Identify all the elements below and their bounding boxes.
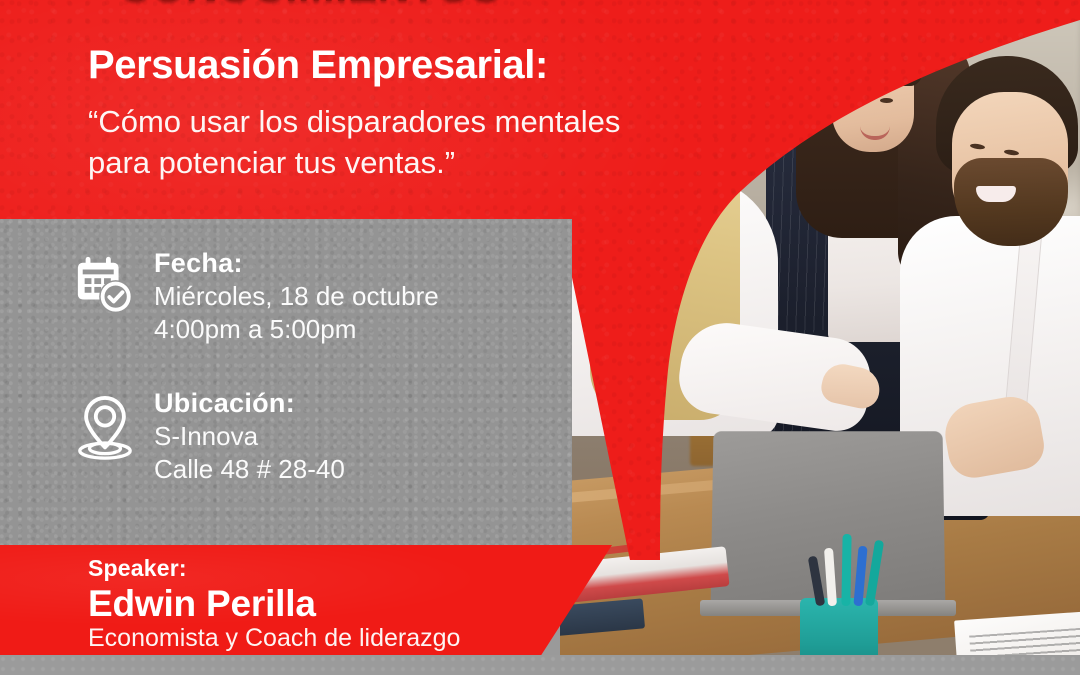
location-text-block: Ubicación: S-Innova Calle 48 # 28-40 <box>148 388 345 485</box>
event-flyer: CONOCIMIENTOS Persuasión Empresarial: “C… <box>0 0 1080 675</box>
info-row-date: Fecha: Miércoles, 18 de octubre 4:00pm a… <box>62 248 439 345</box>
venue-address: Calle 48 # 28-40 <box>154 453 345 486</box>
person-standing-eye-right <box>880 98 893 103</box>
subtitle-line-1: “Cómo usar los disparadores mentales <box>88 104 620 139</box>
subtitle-line-2: para potenciar tus ventas.” <box>88 143 748 184</box>
time-value: 4:00pm a 5:00pm <box>154 313 439 346</box>
location-label: Ubicación: <box>154 388 345 420</box>
speaker-name: Edwin Perilla <box>88 583 316 625</box>
calendar-check-icon <box>62 248 148 316</box>
map-pin-icon <box>62 388 148 460</box>
venue-name: S-Innova <box>154 420 345 453</box>
pen <box>841 534 851 606</box>
cut-off-heading: CONOCIMIENTOS <box>0 0 620 12</box>
date-label: Fecha: <box>154 248 439 280</box>
person-man-smile <box>976 186 1016 202</box>
bottom-gray-strip <box>0 655 1080 675</box>
speaker-label: Speaker: <box>88 555 187 582</box>
speaker-role: Economista y Coach de liderazgo <box>88 624 460 653</box>
page-title: Persuasión Empresarial: <box>88 44 708 86</box>
date-text-block: Fecha: Miércoles, 18 de octubre 4:00pm a… <box>148 248 439 345</box>
date-value: Miércoles, 18 de octubre <box>154 280 439 313</box>
info-row-location: Ubicación: S-Innova Calle 48 # 28-40 <box>62 388 345 485</box>
subtitle: “Cómo usar los disparadores mentales par… <box>88 102 748 184</box>
